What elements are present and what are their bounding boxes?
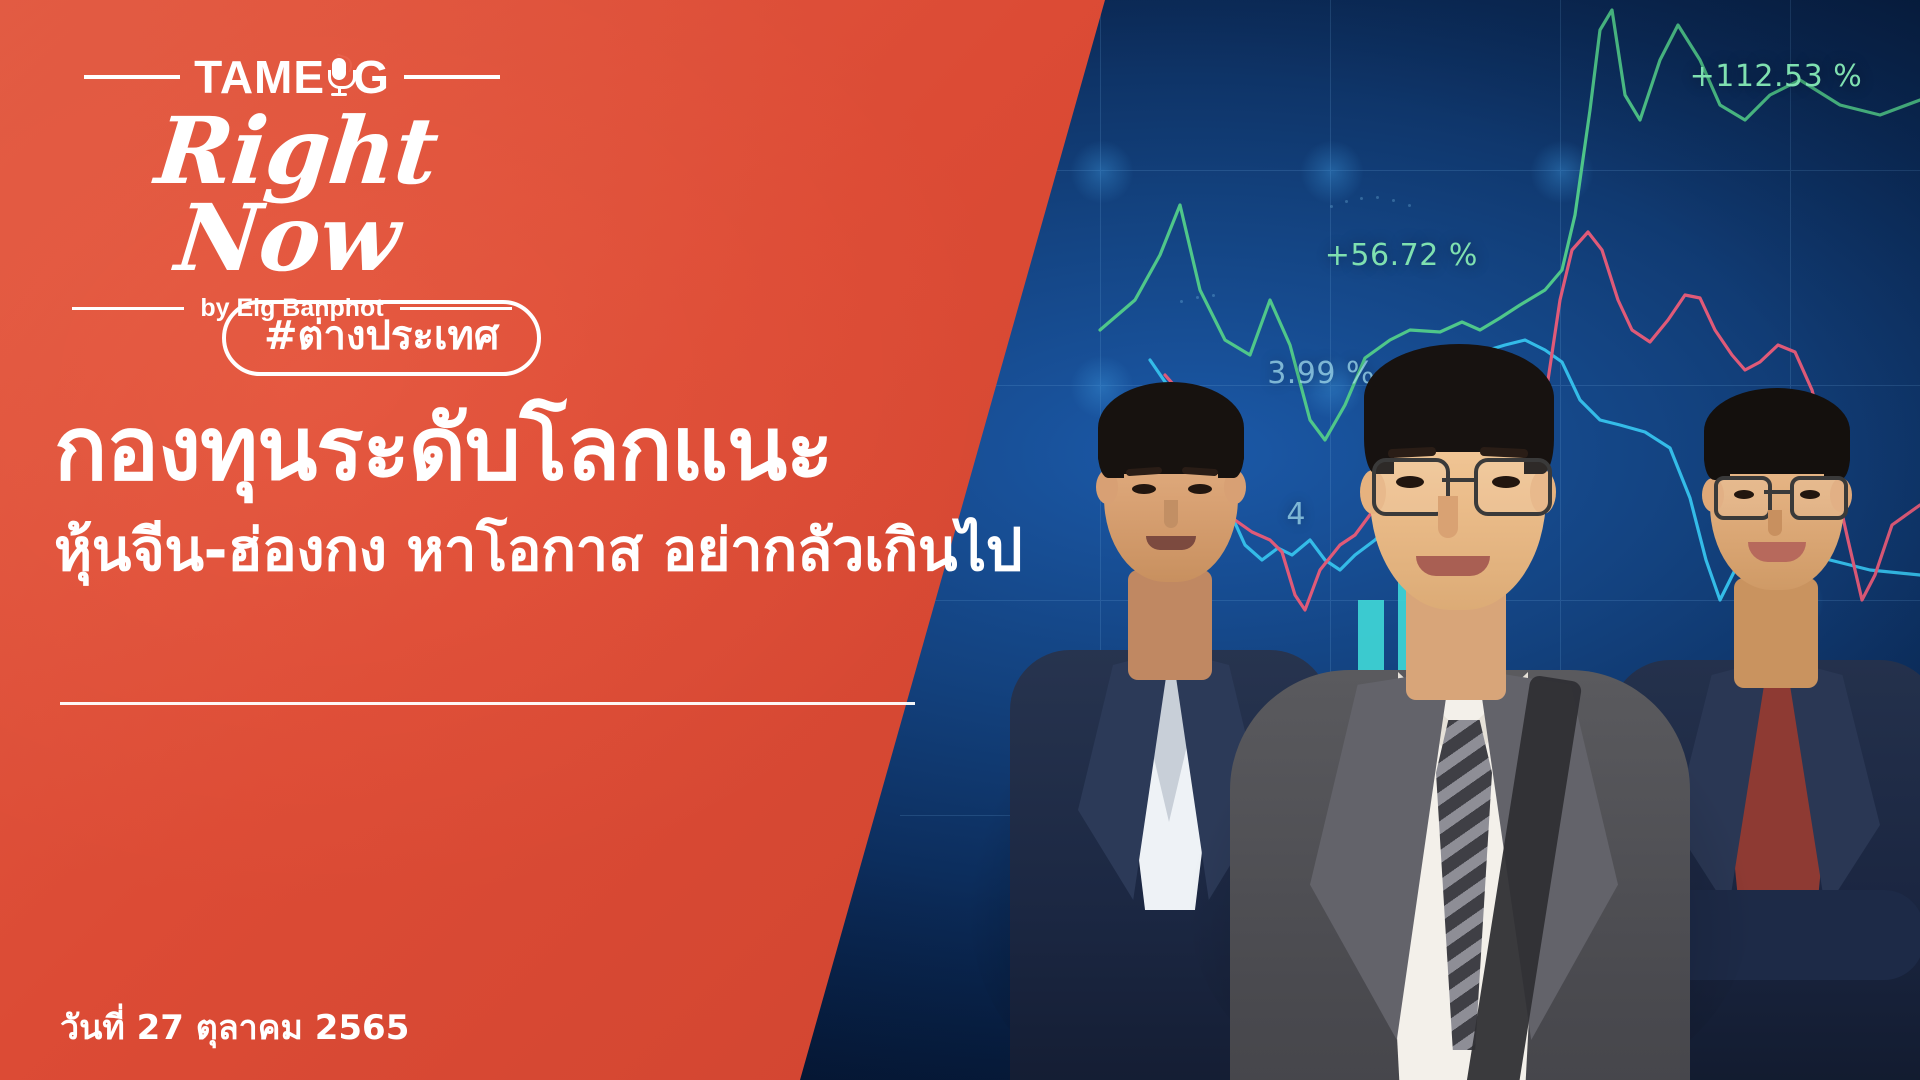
category-badge[interactable]: #ต่างประเทศ — [222, 300, 541, 376]
byline-rule-left — [72, 307, 184, 310]
headline-divider — [60, 702, 915, 705]
thumbnail-canvas: +112.53 %+56.72 %3.99 %4 — [0, 0, 1920, 1080]
headline-block: กองทุนระดับโลกแนะ หุ้นจีน-ฮ่องกง หาโอกาส… — [54, 400, 1114, 588]
chart-percent-label: +112.53 % — [1690, 59, 1863, 94]
publish-date: วันที่ 27 ตุลาคม 2565 — [60, 1000, 409, 1054]
brand-script-title: Right Now — [53, 108, 531, 283]
brand-logo: TAME G Right Now by Eig Banphot — [62, 48, 522, 329]
brand-name-right: G — [353, 54, 390, 100]
microphone-icon — [326, 56, 352, 98]
speaker-center — [1230, 290, 1690, 1080]
logo-rule-left — [84, 75, 180, 79]
logo-rule-right — [404, 75, 500, 79]
brand-wordmark: TAME G — [180, 54, 404, 100]
brand-name-left: TAME — [194, 54, 325, 100]
chart-percent-label: +56.72 % — [1325, 238, 1478, 273]
headline-line-1: กองทุนระดับโลกแนะ — [54, 400, 1114, 499]
headline-line-2: หุ้นจีน-ฮ่องกง หาโอกาส อย่ากลัวเกินไป — [54, 513, 1114, 588]
